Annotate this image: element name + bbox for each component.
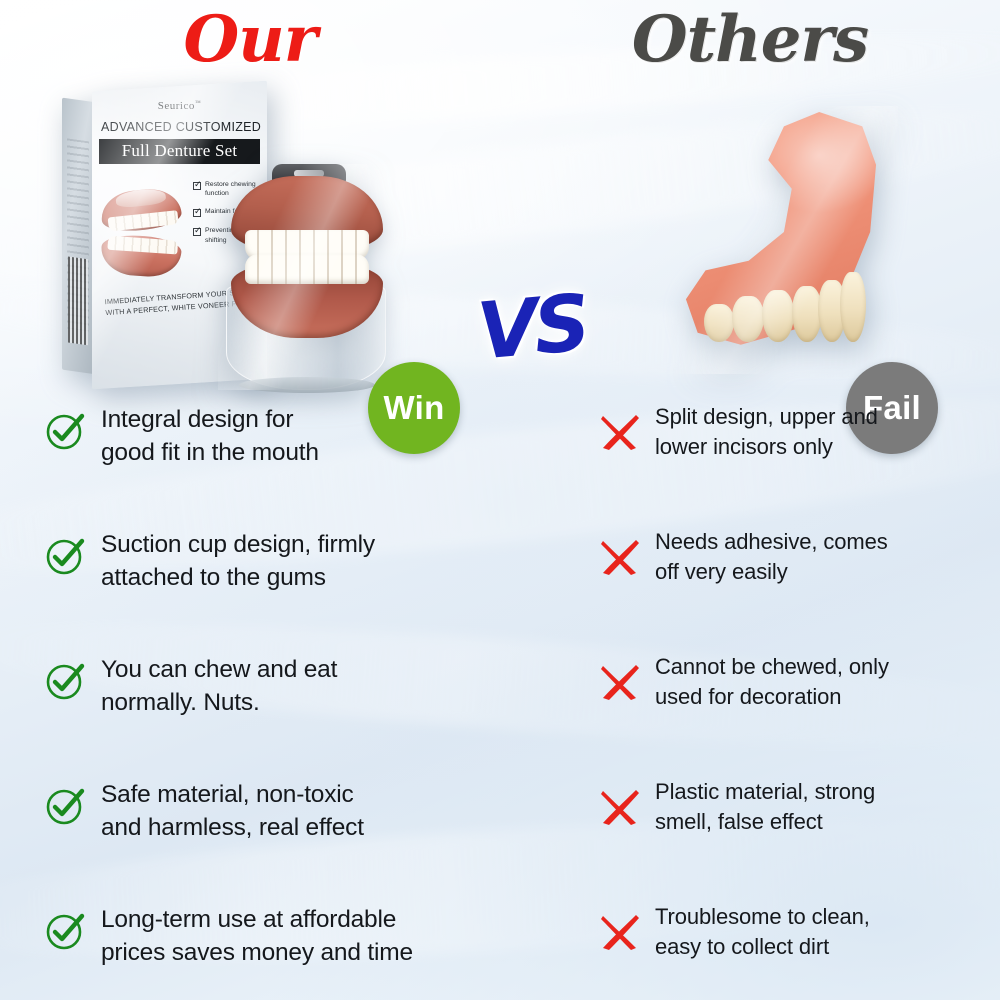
partial-veneer-denture-image [668,106,898,374]
feature-text: Troublesome to clean, easy to collect di… [642,900,998,962]
box-title-band: Full Denture Set [99,139,260,164]
box-denture-teeth [107,236,178,255]
feature-line1: Integral design for [101,406,293,433]
feature-line1: Suction cup design, firmly [101,531,375,558]
box-denture-plate [115,187,166,208]
feature-line1: Long-term use at affordable [101,906,396,933]
box-title: Full Denture Set [99,141,260,161]
feature-line2: and harmless, real effect [101,814,364,841]
list-item: You can chew and eat normally. Nuts. [44,650,514,775]
box-subtitle: ADVANCED CUSTOMIZED [101,120,258,134]
feature-line1: You can chew and eat [101,656,337,683]
list-item: Needs adhesive, comes off very easily [598,525,998,650]
list-item: Long-term use at affordable prices saves… [44,900,514,1000]
competitor-denture-shape [668,106,898,374]
competitor-gloss-highlight [668,106,898,374]
feature-line2: used for decoration [655,684,841,709]
list-item: Cannot be chewed, only used for decorati… [598,650,998,775]
model-gloss-highlight [218,164,394,390]
our-feature-column: Integral design for good fit in the mout… [44,400,514,1000]
feature-text: Cannot be chewed, only used for decorati… [642,650,998,712]
feature-line1: Split design, upper and [655,404,878,429]
full-denture-model-image [218,164,394,390]
others-feature-column: Split design, upper and lower incisors o… [598,400,998,1000]
list-item: Integral design for good fit in the mout… [44,400,514,525]
feature-line2: normally. Nuts. [101,689,260,716]
list-item: Split design, upper and lower incisors o… [598,400,998,525]
cross-brush-icon [598,537,642,577]
feature-line2: smell, false effect [655,809,823,834]
feature-text: Long-term use at affordable prices saves… [86,900,514,969]
feature-text: Needs adhesive, comes off very easily [642,525,998,587]
feature-line2: good fit in the mouth [101,439,319,466]
feature-text: Integral design for good fit in the mout… [86,400,514,469]
box-barcode [68,256,88,345]
heading-others: Others [500,2,1000,77]
check-circle-icon [44,535,86,577]
cross-brush-icon [598,412,642,452]
feature-comparison-lists: Integral design for good fit in the mout… [0,400,1000,1000]
box-brand-name: Seurico [158,100,195,112]
feature-line2: lower incisors only [655,434,833,459]
check-circle-icon [44,660,86,702]
list-item: Troublesome to clean, easy to collect di… [598,900,998,1000]
list-item: Plastic material, strong smell, false ef… [598,775,998,900]
feature-text: Suction cup design, firmly attached to t… [86,525,514,594]
check-circle-icon [44,785,86,827]
check-circle-icon [44,410,86,452]
box-brand: Seurico™ [101,100,258,112]
feature-line1: Safe material, non-toxic [101,781,354,808]
cross-brush-icon [598,662,642,702]
box-denture-photo [99,186,185,280]
list-item: Suction cup design, firmly attached to t… [44,525,514,650]
box-denture-teeth [108,210,179,231]
checkbox-icon [193,228,201,236]
feature-line2: prices saves money and time [101,939,413,966]
feature-line1: Plastic material, strong [655,779,875,804]
feature-line2: attached to the gums [101,564,326,591]
feature-line1: Cannot be chewed, only [655,654,889,679]
feature-text: Plastic material, strong smell, false ef… [642,775,998,837]
check-circle-icon [44,910,86,952]
list-item: Safe material, non-toxic and harmless, r… [44,775,514,900]
cross-brush-icon [598,912,642,952]
feature-line1: Troublesome to clean, [655,904,870,929]
box-brand-tm: ™ [195,100,201,106]
feature-text: Safe material, non-toxic and harmless, r… [86,775,514,844]
feature-text: You can chew and eat normally. Nuts. [86,650,514,719]
checkbox-icon [193,209,201,217]
hero-comparison-area: Seurico™ ADVANCED CUSTOMIZED Full Dentur… [0,78,1000,400]
heading-our: Our [0,2,500,77]
feature-text: Split design, upper and lower incisors o… [642,400,998,462]
feature-line1: Needs adhesive, comes [655,529,888,554]
checkbox-icon [193,182,201,190]
feature-line2: easy to collect dirt [655,934,829,959]
feature-line2: off very easily [655,559,788,584]
box-spine [62,98,96,375]
vs-label: VS [472,271,593,384]
cross-brush-icon [598,787,642,827]
